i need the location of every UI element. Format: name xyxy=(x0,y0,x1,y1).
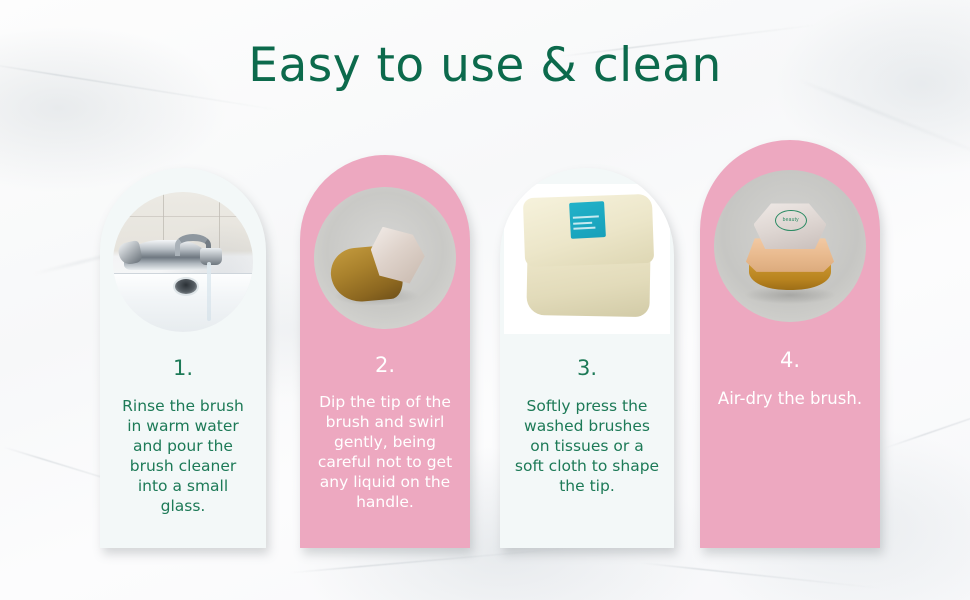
step-number-2: 2. xyxy=(300,355,470,376)
brush-standing-upright-photo: beauty xyxy=(714,170,866,322)
brush-head-dipping-photo xyxy=(314,187,456,329)
step-card-4[interactable]: beauty 4. Air-dry the brush. xyxy=(700,140,880,548)
steps-container: 1. Rinse the brush in warm water and pou… xyxy=(0,0,970,600)
label-line xyxy=(574,216,599,219)
step-card-3[interactable]: 3. Softly press the washed brushes on ti… xyxy=(500,168,674,548)
tile-seam xyxy=(113,216,253,217)
brush-logo-badge: beauty xyxy=(775,210,807,231)
step-text-2: Dip the tip of the brush and swirl gentl… xyxy=(300,392,470,512)
step-number-3: 3. xyxy=(500,358,674,379)
step-number-4: 4. xyxy=(700,350,880,371)
overflow-hole xyxy=(175,279,197,294)
faucet-spout xyxy=(200,248,222,265)
folded-cloth-photo xyxy=(504,184,670,334)
brush-logo-text: beauty xyxy=(776,217,806,223)
step-text-4: Air-dry the brush. xyxy=(700,388,880,410)
marble-background: Easy to use & clean 1. Rinse the brush i… xyxy=(0,0,970,600)
step-card-1[interactable]: 1. Rinse the brush in warm water and pou… xyxy=(100,168,266,548)
label-line xyxy=(574,222,593,225)
step-number-1: 1. xyxy=(100,358,266,379)
step-text-3: Softly press the washed brushes on tissu… xyxy=(500,396,674,496)
water-stream xyxy=(207,262,211,321)
step-card-2[interactable]: 2. Dip the tip of the brush and swirl ge… xyxy=(300,155,470,548)
label-line xyxy=(574,227,596,230)
step-text-1: Rinse the brush in warm water and pour t… xyxy=(100,396,266,516)
cloth-product-label xyxy=(569,201,606,239)
faucet-running-water-photo xyxy=(113,192,253,332)
